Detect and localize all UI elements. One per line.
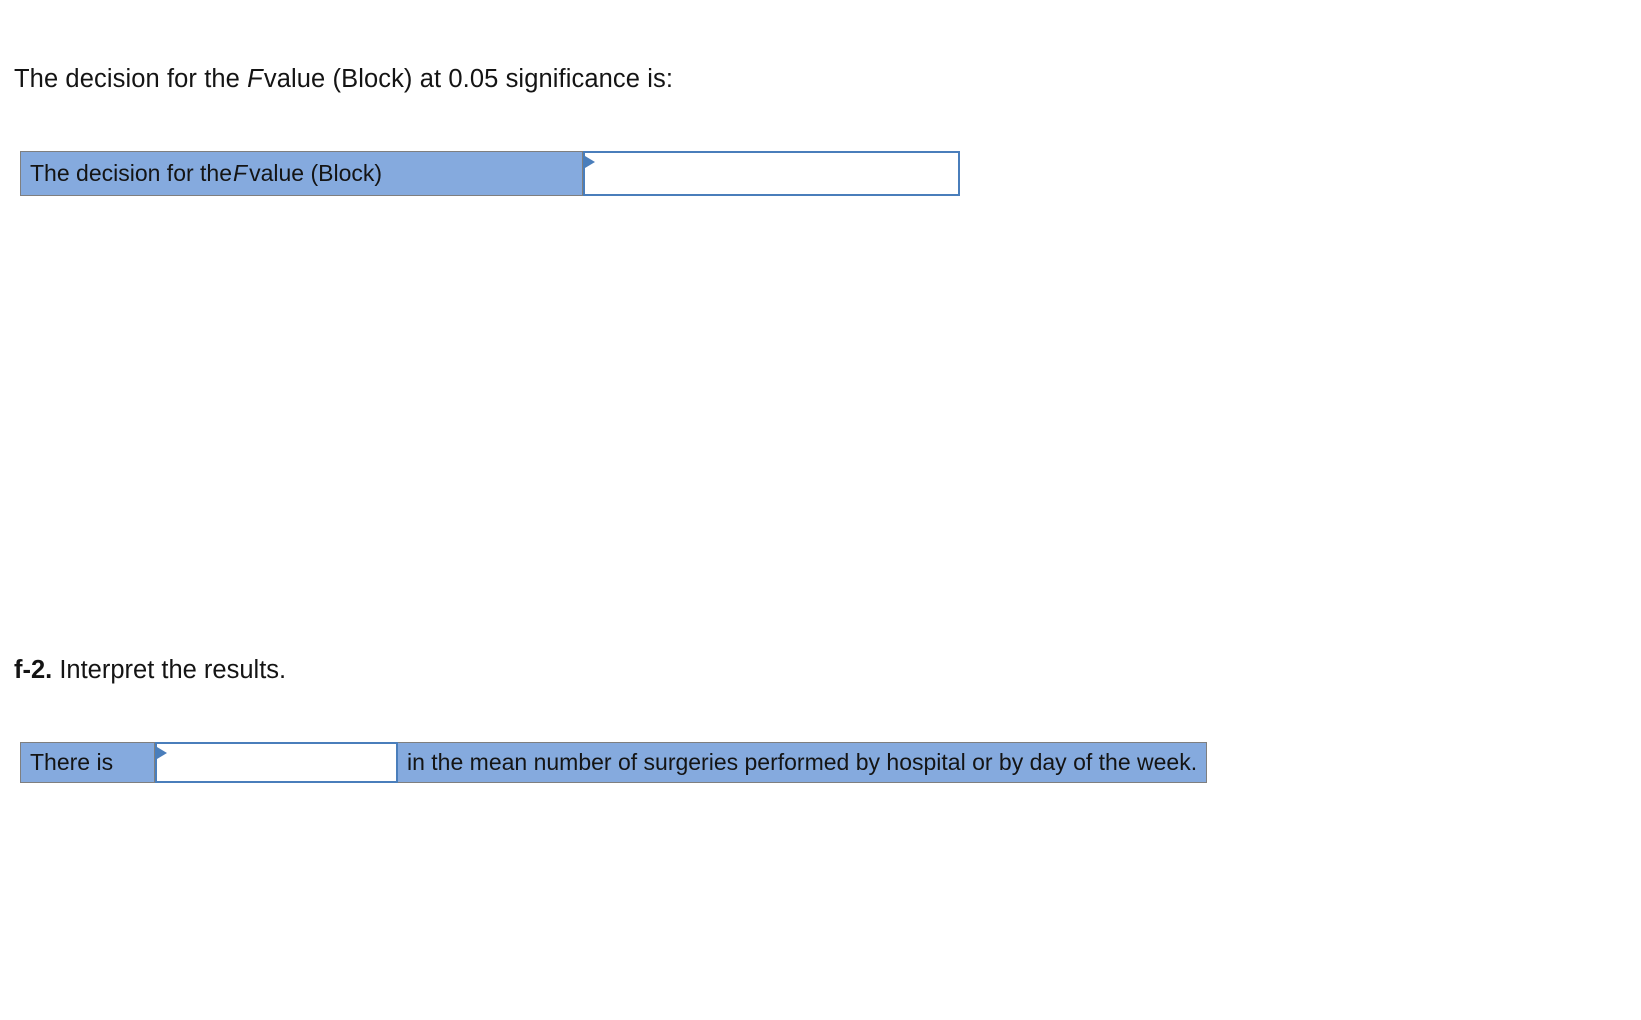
triangle-right-icon (157, 747, 167, 759)
answer-row-f-value-block: The decision for the Fvalue (Block) (20, 151, 960, 196)
part-heading-f2: f-2. Interpret the results. (14, 653, 286, 687)
decision-input[interactable] (585, 153, 958, 194)
question-prompt-text-1: The decision for the (14, 65, 247, 93)
part-heading-text: Interpret the results. (52, 656, 286, 684)
interpretation-label-left: There is (20, 742, 155, 783)
interpretation-input-container[interactable] (155, 742, 398, 783)
triangle-right-icon (585, 156, 595, 168)
interpretation-label-right: in the mean number of surgeries performe… (398, 742, 1207, 783)
question-prompt-text-2: value (Block) at 0.05 significance is: (264, 65, 673, 93)
answer-label-f-value-block: The decision for the Fvalue (Block) (20, 151, 583, 196)
answer-label-text-2: value (Block) (249, 162, 382, 185)
question-prompt-italic-f: F (247, 65, 264, 93)
answer-label-italic-f: F (232, 162, 249, 185)
answer-label-text-1: The decision for the (30, 162, 232, 185)
question-prompt: The decision for the Fvalue (Block) at 0… (14, 62, 673, 96)
decision-input-container[interactable] (583, 151, 960, 196)
interpretation-input[interactable] (157, 744, 396, 781)
answer-row-interpretation: There is in the mean number of surgeries… (20, 742, 1207, 783)
part-id-label: f-2. (14, 656, 52, 684)
